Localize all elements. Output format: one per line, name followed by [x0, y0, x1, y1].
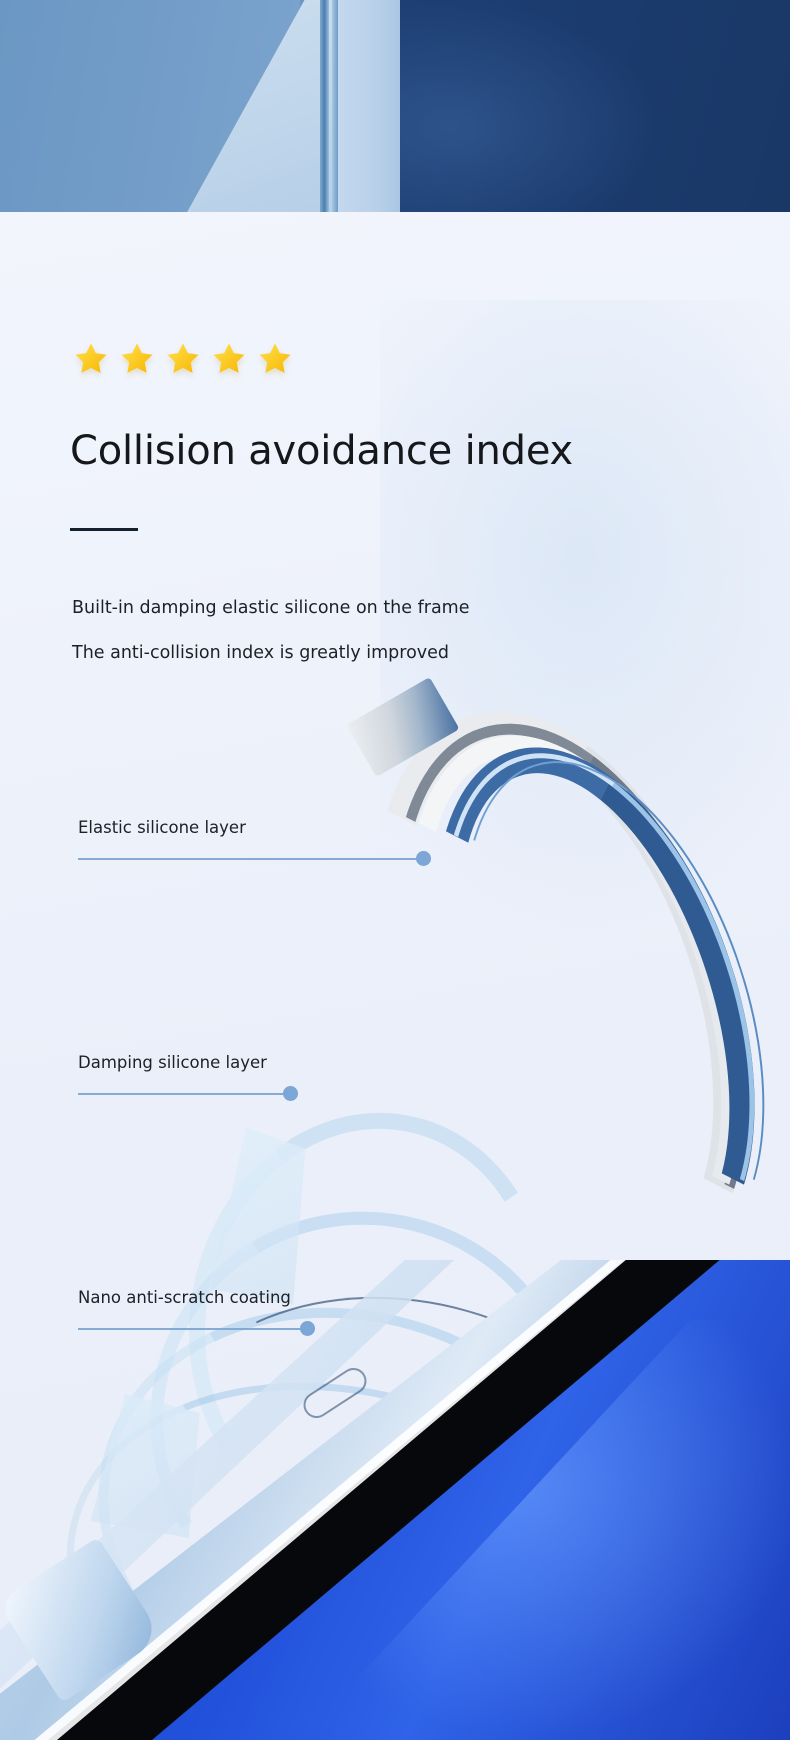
callout-label: Nano anti-scratch coating	[78, 1288, 291, 1307]
phone-edge-photo	[0, 1260, 790, 1740]
star-icon	[164, 340, 202, 378]
callout-dot-marker	[416, 851, 431, 866]
page-title: Collision avoidance index	[70, 428, 573, 474]
callout-dot-marker	[300, 1321, 315, 1336]
banner-right-glow	[400, 0, 660, 212]
header-banner	[0, 0, 790, 212]
five-star-rating	[72, 340, 294, 378]
callout-label: Elastic silicone layer	[78, 818, 246, 837]
body-line-1: Built-in damping elastic silicone on the…	[72, 598, 470, 618]
product-feature-banner: Collision avoidance index Built-in dampi…	[0, 0, 790, 1740]
callout-leader-line	[78, 858, 422, 860]
star-icon	[72, 340, 110, 378]
star-icon	[210, 340, 248, 378]
callout-dot-marker	[283, 1086, 298, 1101]
star-icon	[256, 340, 294, 378]
title-divider	[70, 528, 138, 531]
star-icon	[118, 340, 156, 378]
callout-label: Damping silicone layer	[78, 1053, 267, 1072]
callout-leader-line	[78, 1093, 288, 1095]
banner-center-panel	[338, 0, 400, 212]
body-line-2: The anti-collision index is greatly impr…	[72, 643, 449, 663]
banner-seam-a	[320, 0, 329, 212]
multilayer-strip	[330, 692, 750, 1312]
callout-leader-line	[78, 1328, 306, 1330]
